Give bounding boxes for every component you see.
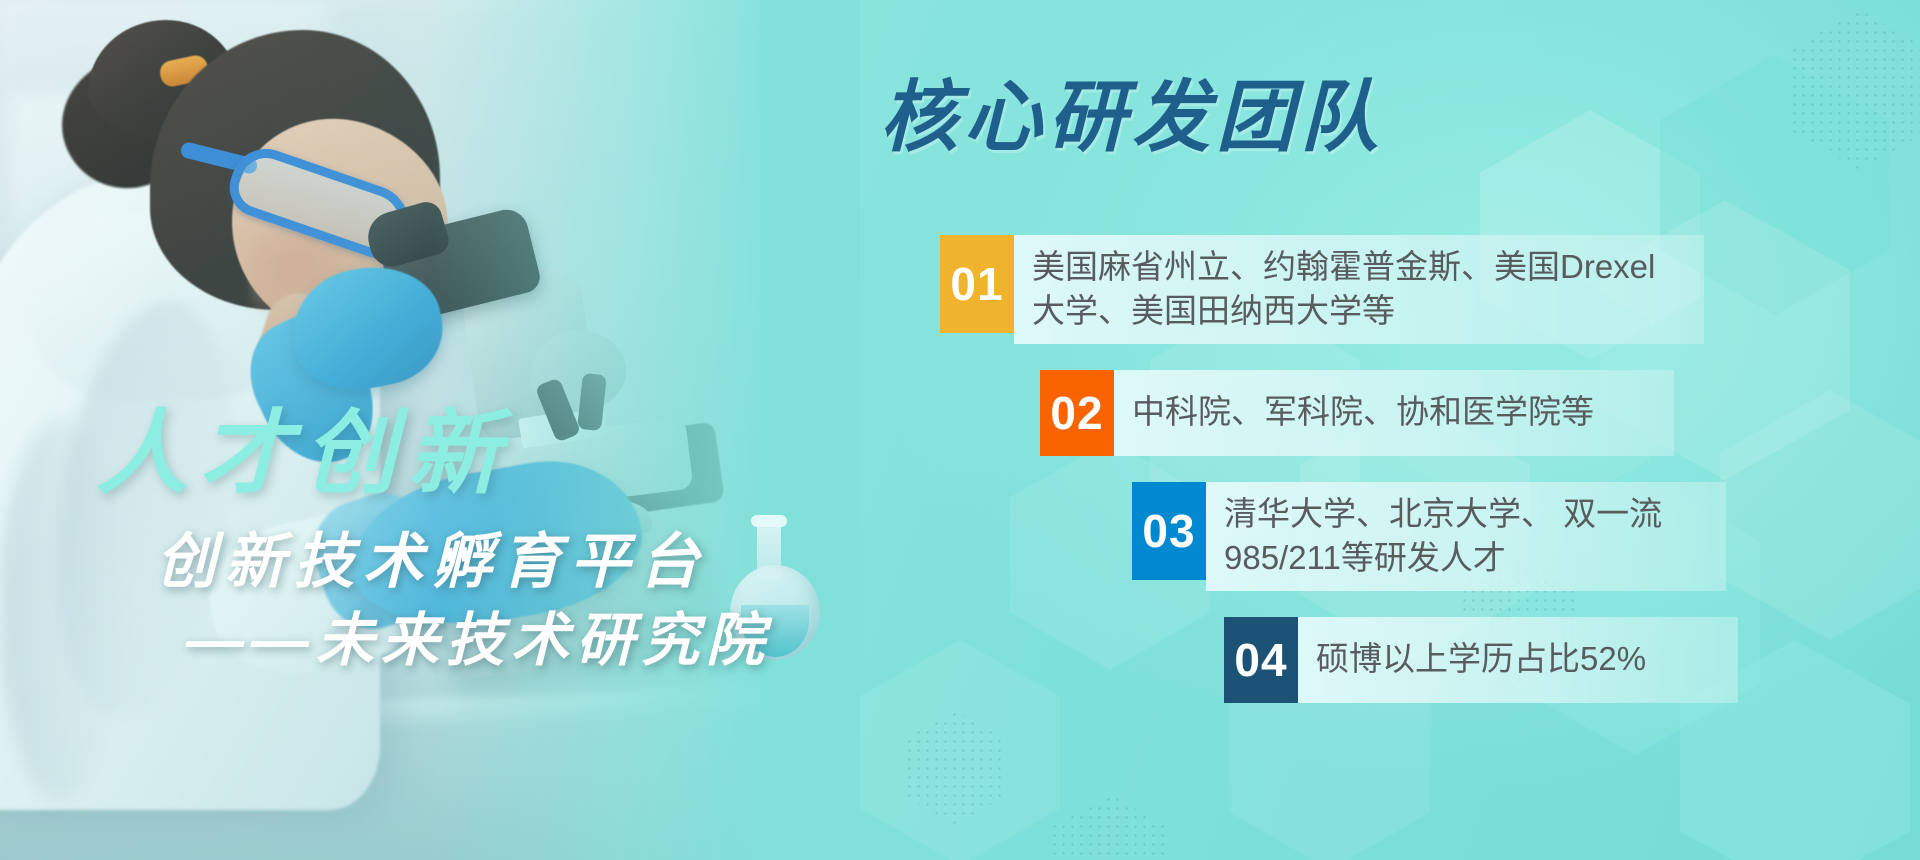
list-item[interactable]: 03 清华大学、北京大学、 双一流 985/211等研发人才 [1132, 482, 1920, 591]
item-text: 美国麻省州立、约翰霍普金斯、美国Drexel 大学、美国田纳西大学等 [1014, 235, 1704, 344]
list-item[interactable]: 04 硕博以上学历占比52% [1224, 617, 1920, 703]
left-headline-block: 人才创新 创新技术孵育平台 ——未来技术研究院 [0, 408, 820, 678]
section-title: 核心研发团队 [880, 78, 1384, 156]
banner-stage: 人才创新 创新技术孵育平台 ——未来技术研究院 核心研发团队 01 美国麻省州立… [0, 0, 1920, 860]
team-panel: 核心研发团队 01 美国麻省州立、约翰霍普金斯、美国Drexel 大学、美国田纳… [820, 0, 1920, 860]
headline-sub-2: ——未来技术研究院 [0, 605, 820, 678]
team-list: 01 美国麻省州立、约翰霍普金斯、美国Drexel 大学、美国田纳西大学等 02… [820, 235, 1920, 729]
item-number-badge: 03 [1132, 482, 1206, 580]
headline-main: 人才创新 [0, 408, 820, 500]
item-number-badge: 04 [1224, 617, 1298, 703]
list-item[interactable]: 01 美国麻省州立、约翰霍普金斯、美国Drexel 大学、美国田纳西大学等 [940, 235, 1920, 344]
item-number-badge: 01 [940, 235, 1014, 333]
item-number-badge: 02 [1040, 370, 1114, 456]
headline-sub-1: 创新技术孵育平台 [0, 524, 820, 599]
item-text: 清华大学、北京大学、 双一流 985/211等研发人才 [1206, 482, 1726, 591]
item-text: 硕博以上学历占比52% [1298, 617, 1738, 703]
item-text: 中科院、军科院、协和医学院等 [1114, 370, 1674, 456]
list-item[interactable]: 02 中科院、军科院、协和医学院等 [1040, 370, 1920, 456]
